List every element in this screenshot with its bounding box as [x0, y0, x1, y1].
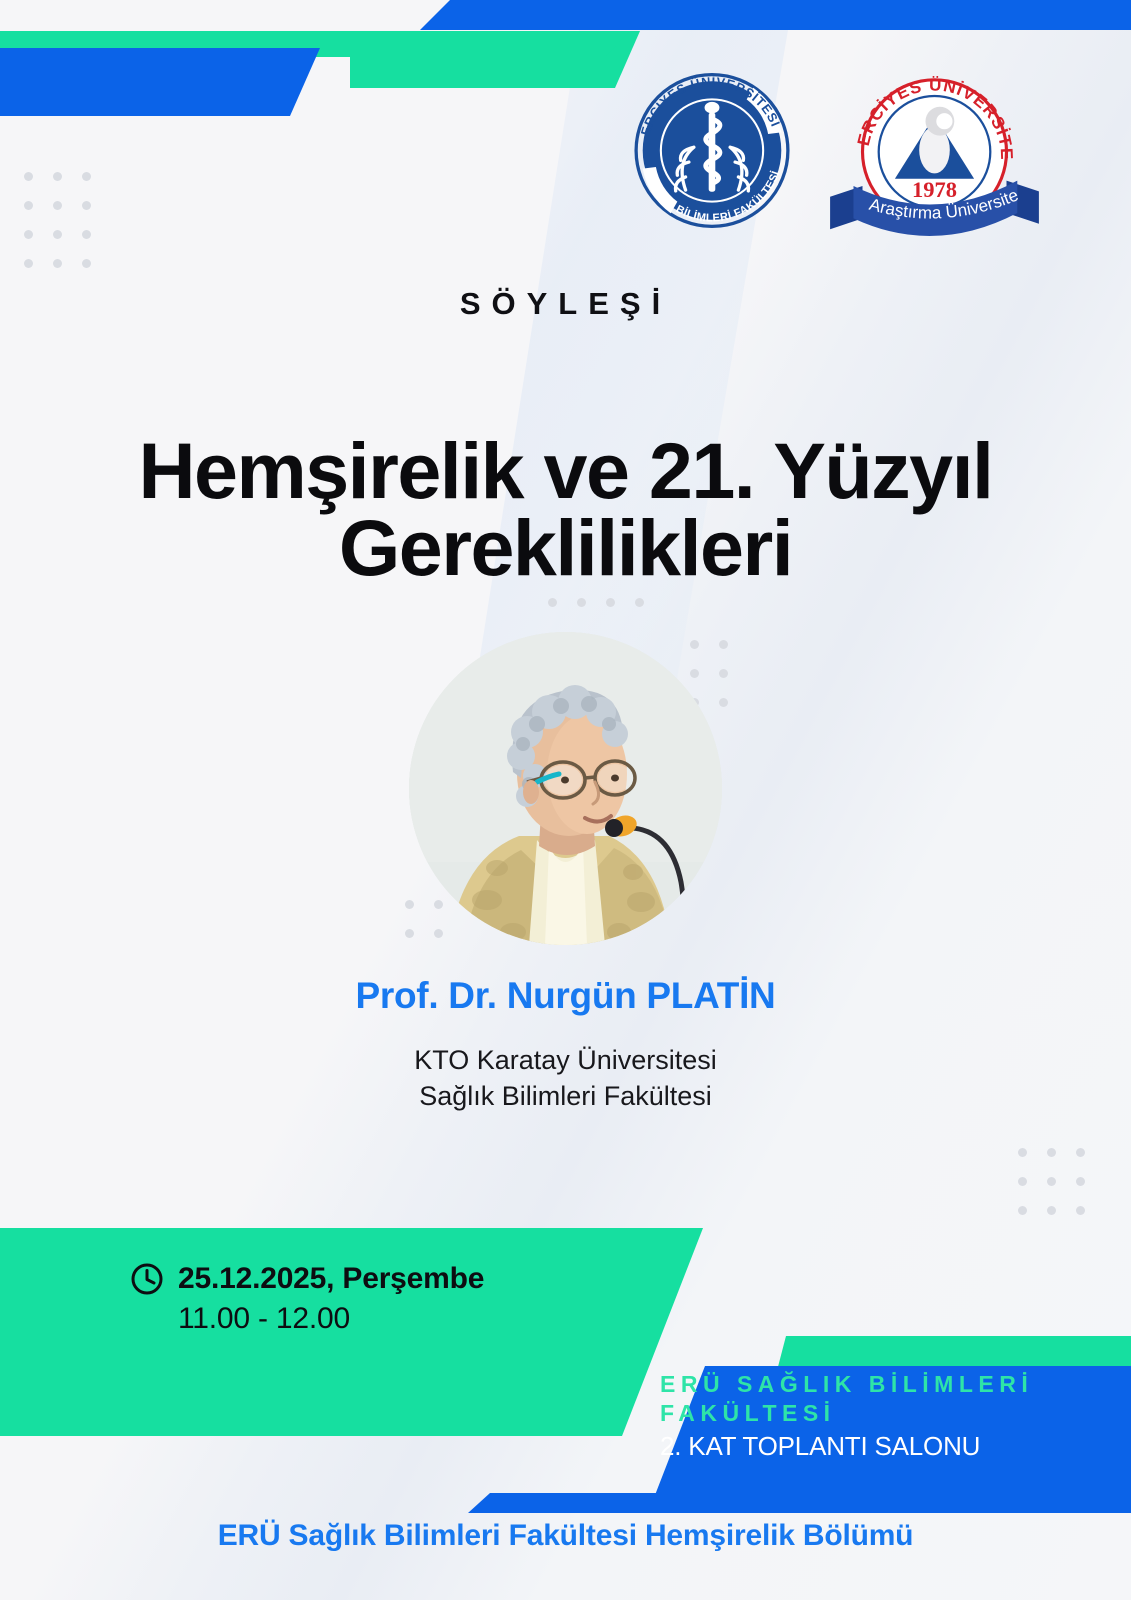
- venue-room: 2. KAT TOPLANTI SALONU: [660, 1431, 1080, 1462]
- svg-text:1978: 1978: [912, 177, 957, 202]
- speaker-portrait: [409, 632, 722, 945]
- event-venue: ERÜ SAĞLIK BİLİMLERİ FAKÜLTESİ 2. KAT TO…: [660, 1370, 1080, 1462]
- page-kicker: SÖYLEŞİ: [0, 286, 1131, 322]
- event-date-row: 25.12.2025, Perşembe: [130, 1262, 600, 1296]
- logo-row: ERCİYES ÜNİVERSİTESİ SAĞLIK BİLİMLERİ FA…: [612, 60, 1067, 240]
- top-left-blue-band: [0, 48, 320, 116]
- dot-grid-photo-mid: [690, 640, 728, 707]
- affiliation-line-1: KTO Karatay Üniversitesi: [0, 1043, 1131, 1079]
- venue-faculty: ERÜ SAĞLIK BİLİMLERİ FAKÜLTESİ: [660, 1370, 1080, 1429]
- speaker-portrait-image: [409, 632, 722, 945]
- poster-footer: ERÜ Sağlık Bilimleri Fakültesi Hemşireli…: [0, 1519, 1131, 1553]
- speaker-affiliation: KTO Karatay Üniversitesi Sağlık Bilimler…: [0, 1043, 1131, 1115]
- logo-saglik-bilimleri-fakultesi-icon: ERCİYES ÜNİVERSİTESİ SAĞLIK BİLİMLERİ FA…: [612, 68, 812, 233]
- affiliation-line-2: Sağlık Bilimleri Fakültesi: [0, 1079, 1131, 1115]
- logo-erciyes-arastirma-universitesi-icon: 1978 Araştırma Üniversitesi ERCİYES ÜNİV…: [802, 60, 1067, 240]
- top-right-blue-band: [420, 0, 1131, 30]
- event-time: 11.00 - 12.00: [178, 1302, 600, 1336]
- dot-grid-photo-top: [548, 598, 644, 607]
- event-schedule: 25.12.2025, Perşembe 11.00 - 12.00: [130, 1262, 600, 1336]
- dot-grid-photo-left: [405, 900, 443, 938]
- speaker-name: Prof. Dr. Nurgün PLATİN: [0, 975, 1131, 1017]
- event-poster: ERCİYES ÜNİVERSİTESİ SAĞLIK BİLİMLERİ FA…: [0, 0, 1131, 1600]
- dot-grid-top-left: [24, 172, 91, 268]
- page-title: Hemşirelik ve 21. Yüzyıl Gereklilikleri: [50, 433, 1081, 586]
- dot-grid-right: [1018, 1148, 1085, 1215]
- clock-icon: [130, 1262, 164, 1296]
- bottom-blue-strip: [468, 1493, 1131, 1513]
- event-date: 25.12.2025, Perşembe: [178, 1262, 484, 1296]
